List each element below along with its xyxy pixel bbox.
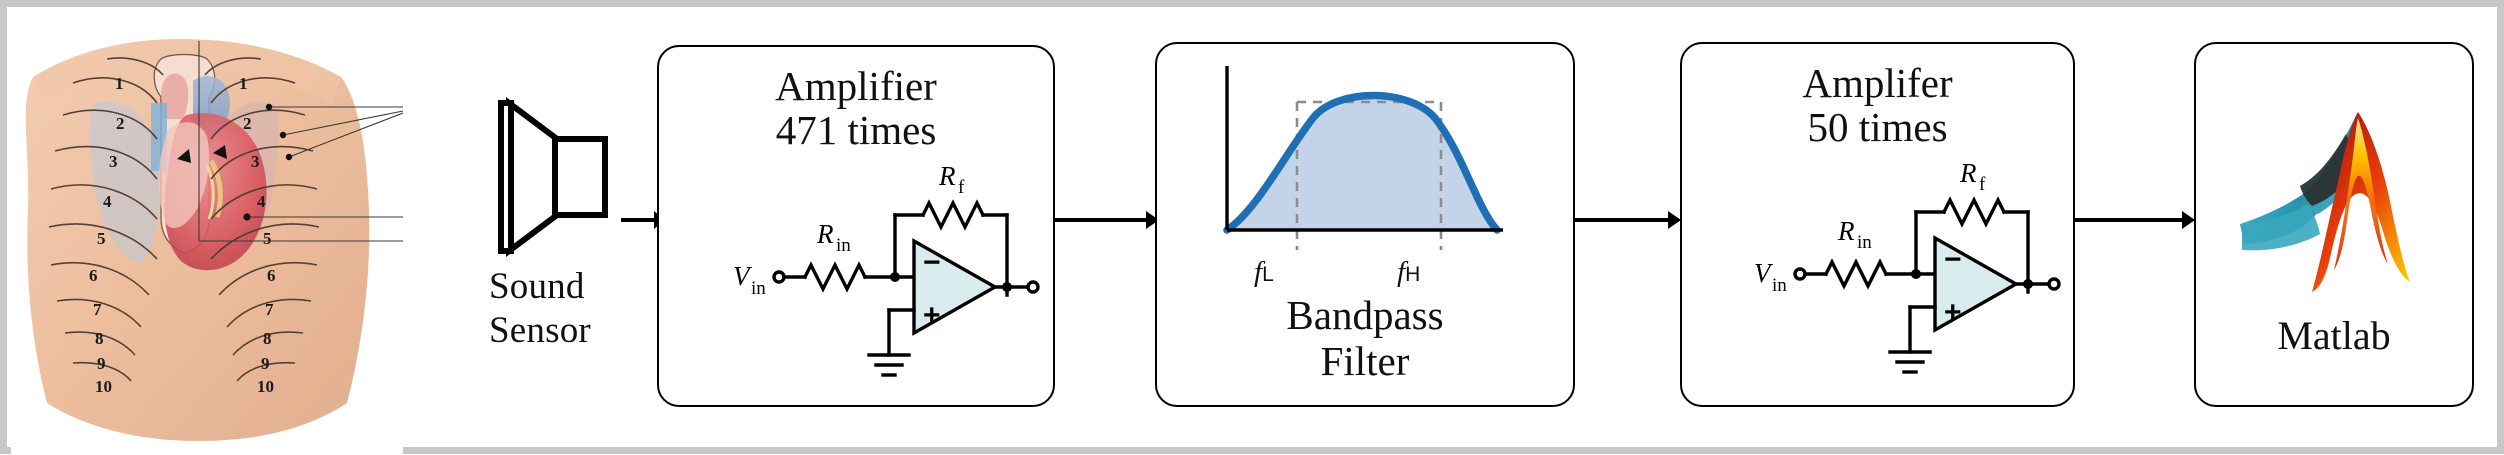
svg-text:−: − <box>923 246 941 279</box>
svg-text:R: R <box>1837 216 1855 246</box>
cutoff-high-label: fH <box>1397 256 1420 289</box>
cutoff-low-label: fL <box>1254 256 1274 289</box>
amplifier2-title-line2: 50 times <box>1682 106 2073 149</box>
svg-text:3: 3 <box>251 152 260 171</box>
svg-text:10: 10 <box>257 377 274 396</box>
svg-text:−: − <box>1944 243 1962 276</box>
arrow-bandpass-to-amplifier2 <box>1575 207 1681 233</box>
svg-text:2: 2 <box>243 114 252 133</box>
amplifier1-title-line1: Amplifier <box>659 65 1053 108</box>
amplifier1-schematic: − + V in V out R in R f <box>677 155 1049 395</box>
svg-text:in: in <box>1772 275 1787 296</box>
chest-auscultation-image: 1 2 3 4 5 6 7 8 9 10 1 2 3 4 5 <box>11 11 403 455</box>
svg-text:in: in <box>1857 232 1872 253</box>
amplifier1-block[interactable]: Amplifier 471 times <box>657 45 1055 407</box>
svg-text:4: 4 <box>257 192 266 211</box>
diagram-canvas: 1 2 3 4 5 6 7 8 9 10 1 2 3 4 5 <box>0 0 2504 454</box>
svg-text:7: 7 <box>93 300 102 319</box>
svg-text:5: 5 <box>97 229 106 248</box>
svg-text:R: R <box>816 219 834 249</box>
matlab-label: Matlab <box>2196 312 2472 359</box>
arrow-amplifier1-to-bandpass <box>1055 207 1159 233</box>
svg-text:in: in <box>751 278 766 299</box>
svg-text:in: in <box>836 235 851 256</box>
amplifier2-schematic: − + V in V out R in R f <box>1698 152 2070 392</box>
amplifier2-block[interactable]: Amplifer 50 times <box>1680 42 2075 407</box>
svg-text:V: V <box>733 261 753 291</box>
speaker-microphone-icon <box>495 97 625 257</box>
matlab-block[interactable]: Matlab <box>2194 42 2474 407</box>
matlab-membrane-logo <box>2234 96 2434 306</box>
svg-text:1: 1 <box>115 74 124 93</box>
svg-text:1: 1 <box>239 74 248 93</box>
svg-text:5: 5 <box>263 229 272 248</box>
svg-text:+: + <box>923 299 941 332</box>
svg-text:8: 8 <box>263 329 272 348</box>
bandpass-filter-block[interactable]: fL fH Bandpass Filter <box>1155 42 1575 407</box>
bandpass-response-chart <box>1209 58 1509 258</box>
amplifier1-title-line2: 471 times <box>659 109 1053 152</box>
svg-text:f: f <box>1979 174 1986 195</box>
svg-text:R: R <box>1959 158 1977 188</box>
sound-sensor-label-line2: Sensor <box>489 309 659 352</box>
sound-sensor-block: Sound Sensor <box>495 97 645 417</box>
sound-sensor-label-line1: Sound <box>489 265 659 308</box>
bandpass-title-line1: Bandpass <box>1157 294 1573 337</box>
svg-text:8: 8 <box>95 329 104 348</box>
svg-text:7: 7 <box>265 300 274 319</box>
svg-text:V: V <box>1754 258 1774 288</box>
svg-text:6: 6 <box>89 266 98 285</box>
svg-text:6: 6 <box>267 266 276 285</box>
arrow-amplifier2-to-matlab <box>2075 207 2195 233</box>
svg-text:2: 2 <box>116 114 125 133</box>
svg-text:R: R <box>938 161 956 191</box>
svg-text:f: f <box>958 177 965 198</box>
svg-text:9: 9 <box>97 354 106 373</box>
svg-text:3: 3 <box>109 152 118 171</box>
svg-text:4: 4 <box>103 192 112 211</box>
bandpass-title-line2: Filter <box>1157 340 1573 383</box>
svg-text:9: 9 <box>261 354 270 373</box>
svg-text:+: + <box>1944 296 1962 329</box>
amplifier2-title-line1: Amplifer <box>1682 62 2073 105</box>
svg-text:10: 10 <box>95 377 112 396</box>
